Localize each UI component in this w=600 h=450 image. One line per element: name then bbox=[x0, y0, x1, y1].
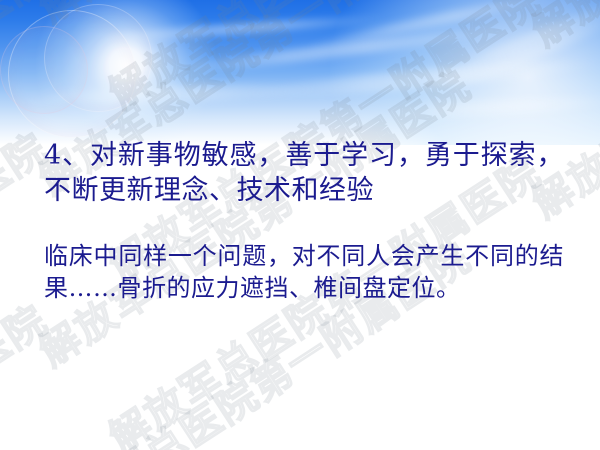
slide-heading: 4、对新事物敏感，善于学习，勇于探索，不断更新理念、技术和经验 bbox=[44, 138, 564, 208]
slide-content: 4、对新事物敏感，善于学习，勇于探索，不断更新理念、技术和经验 临床中同样一个问… bbox=[0, 0, 600, 450]
slide-canvas: 解放军总医院第一附属医院 解放军总医院第一附属医院 解放军总医院第一附属医院 解… bbox=[0, 0, 600, 450]
slide-body-text: 临床中同样一个问题，对不同人会产生不同的结果……骨折的应力遮挡、椎间盘定位。 bbox=[44, 240, 564, 304]
